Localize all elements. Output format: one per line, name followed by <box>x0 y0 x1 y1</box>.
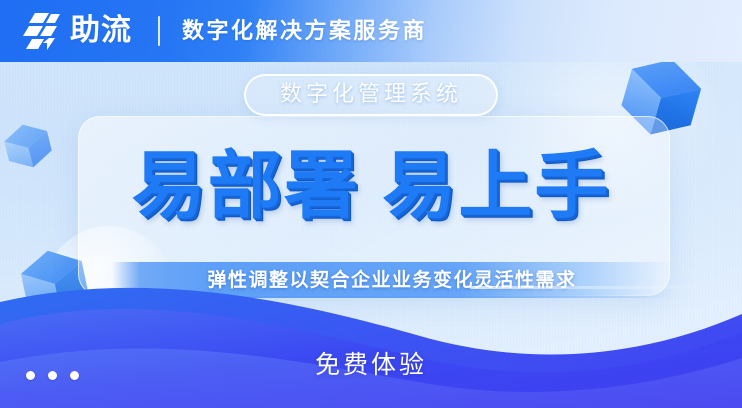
hero-badge: 数字化管理系统 <box>244 74 498 116</box>
cta-free-trial-label: 免费体验 <box>315 351 427 379</box>
carousel-dots[interactable] <box>26 371 79 380</box>
hero-headline-text: 易部署 易上手 <box>132 140 611 233</box>
hero-headline: 易部署 易上手 <box>0 140 742 233</box>
carousel-dot-1[interactable] <box>26 371 35 380</box>
bottom-wave-decoration <box>0 258 742 408</box>
header-slogan: 数字化解决方案服务商 <box>182 20 427 42</box>
header-divider <box>158 16 160 46</box>
header-bar: 助流 数字化解决方案服务商 <box>0 0 742 62</box>
cta-free-trial[interactable]: 免费体验 <box>0 353 742 378</box>
promo-banner: 助流 数字化解决方案服务商 数字化管理系统 易部署 易上手 弹性调整以契合企业业… <box>0 0 742 408</box>
carousel-dot-3[interactable] <box>70 371 79 380</box>
header-brand-group[interactable]: 助流 数字化解决方案服务商 <box>22 0 427 62</box>
brand-name: 助流 <box>70 16 132 46</box>
lightning-bolt-logo-icon[interactable] <box>22 10 64 52</box>
hero-badge-label: 数字化管理系统 <box>280 82 462 106</box>
carousel-dot-2[interactable] <box>48 371 57 380</box>
